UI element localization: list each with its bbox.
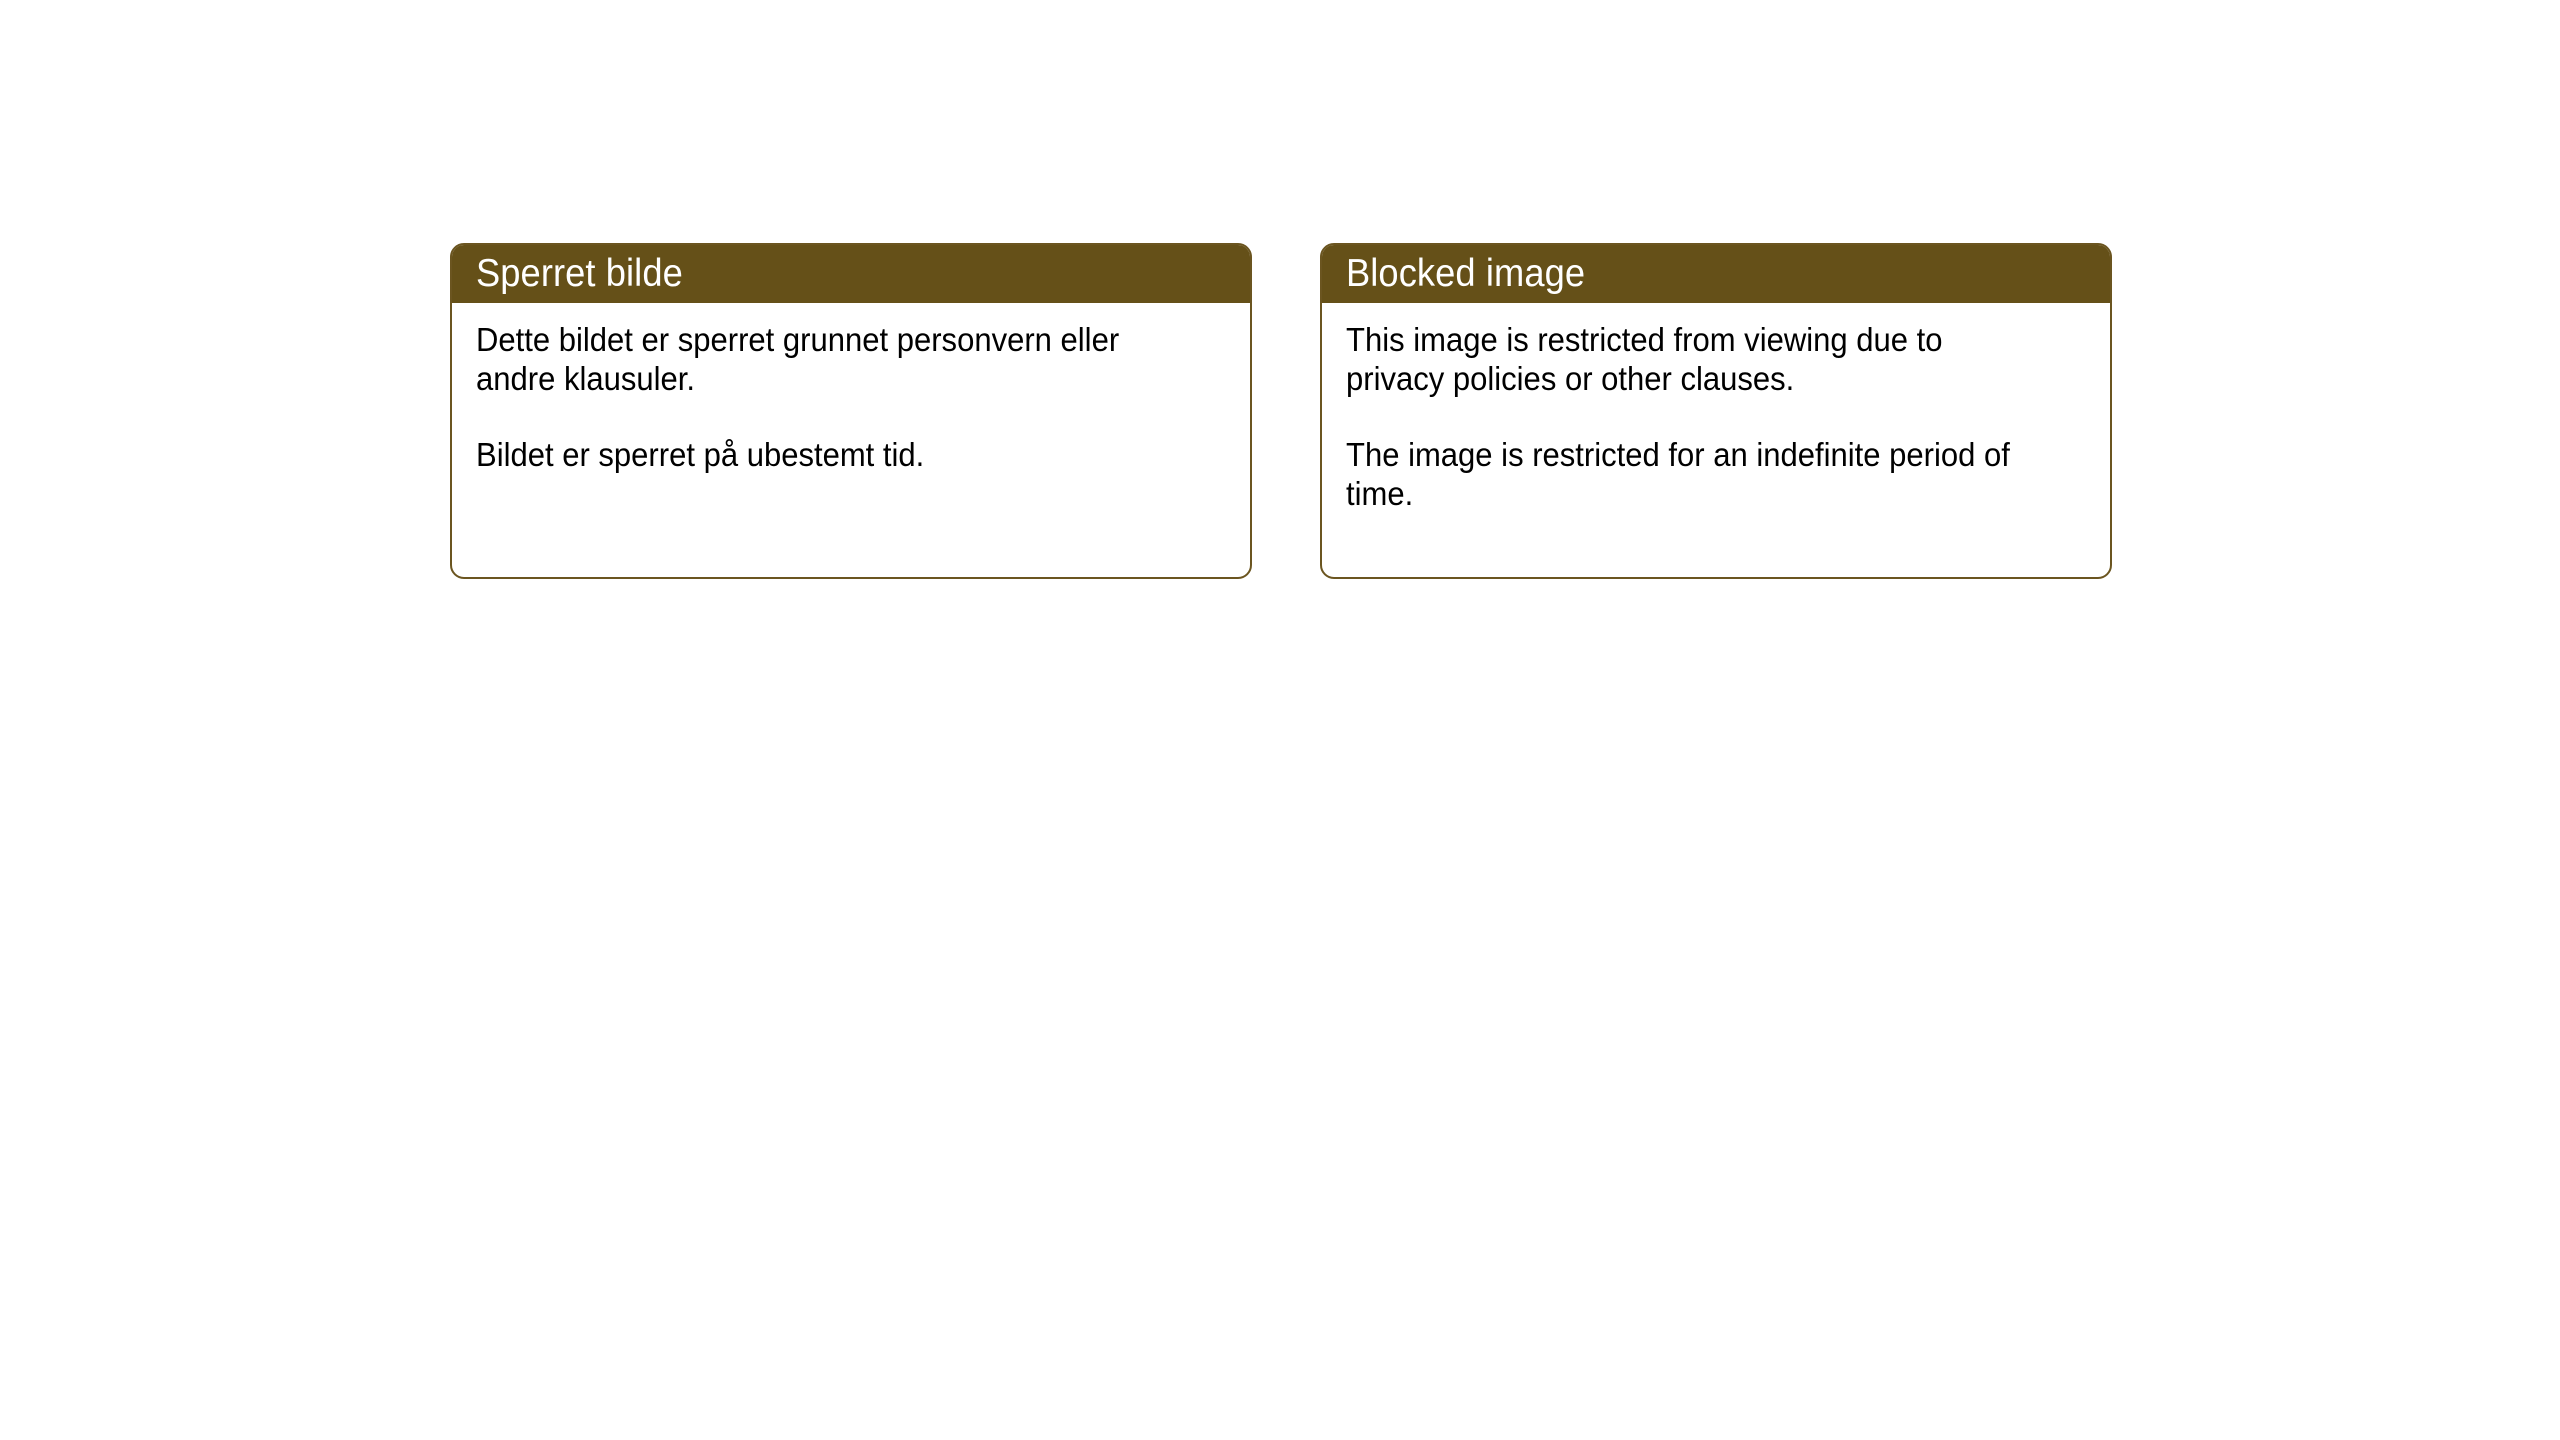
blocked-image-notice-card-en: Blocked image This image is restricted f… xyxy=(1320,243,2112,579)
notice-paragraph-no-1: Dette bildet er sperret grunnet personve… xyxy=(476,321,1181,398)
page-stage: Sperret bilde Dette bildet er sperret gr… xyxy=(0,0,2560,1440)
notice-title-en: Blocked image xyxy=(1346,254,1585,293)
notice-body-no: Dette bildet er sperret grunnet personve… xyxy=(452,303,1250,577)
notice-header-no: Sperret bilde xyxy=(450,243,1252,303)
notice-paragraph-en-1: This image is restricted from viewing du… xyxy=(1346,321,2042,398)
notice-title-no: Sperret bilde xyxy=(476,254,683,293)
notice-paragraph-en-2: The image is restricted for an indefinit… xyxy=(1346,436,2042,513)
notice-paragraph-no-2: Bildet er sperret på ubestemt tid. xyxy=(476,436,1181,475)
notice-header-en: Blocked image xyxy=(1320,243,2112,303)
notice-body-en: This image is restricted from viewing du… xyxy=(1322,303,2110,577)
blocked-image-notice-card-no: Sperret bilde Dette bildet er sperret gr… xyxy=(450,243,1252,579)
